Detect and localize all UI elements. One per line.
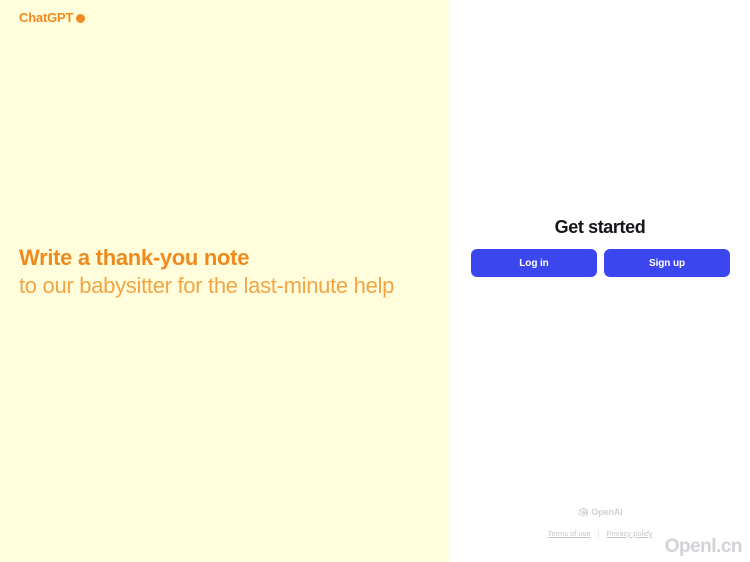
openai-wordmark: OpenAI	[591, 508, 622, 517]
right-auth-panel: Get started Log in Sign up OpenAI Terms …	[450, 0, 750, 562]
chatgpt-logo[interactable]: ChatGPT	[19, 11, 85, 24]
chatgpt-welcome-screen: ChatGPT Write a thank-you note to our ba…	[0, 0, 750, 562]
footer: OpenAI Terms of use | Privacy policy	[450, 507, 750, 538]
openai-branding: OpenAI	[450, 507, 750, 518]
footer-links: Terms of use | Privacy policy	[450, 529, 750, 538]
headline-prompt-title: Write a thank-you note	[19, 244, 419, 272]
orange-dot-icon	[76, 14, 85, 23]
signup-button[interactable]: Sign up	[604, 249, 730, 277]
watermark-tick: ㄨ	[645, 530, 651, 536]
terms-of-use-link[interactable]: Terms of use	[548, 529, 591, 538]
auth-button-group: Log in Sign up	[471, 249, 730, 277]
chatgpt-wordmark: ChatGPT	[19, 11, 73, 24]
headline-prompt-detail: to our babysitter for the last-minute he…	[19, 272, 419, 300]
openai-logo-icon	[577, 507, 588, 518]
footer-separator: |	[598, 529, 600, 538]
promo-headline: Write a thank-you note to our babysitter…	[19, 244, 419, 300]
get-started-section: Get started	[450, 216, 750, 238]
page-title: Get started	[450, 216, 750, 238]
login-button[interactable]: Log in	[471, 249, 597, 277]
left-promo-panel: ChatGPT Write a thank-you note to our ba…	[0, 0, 450, 562]
